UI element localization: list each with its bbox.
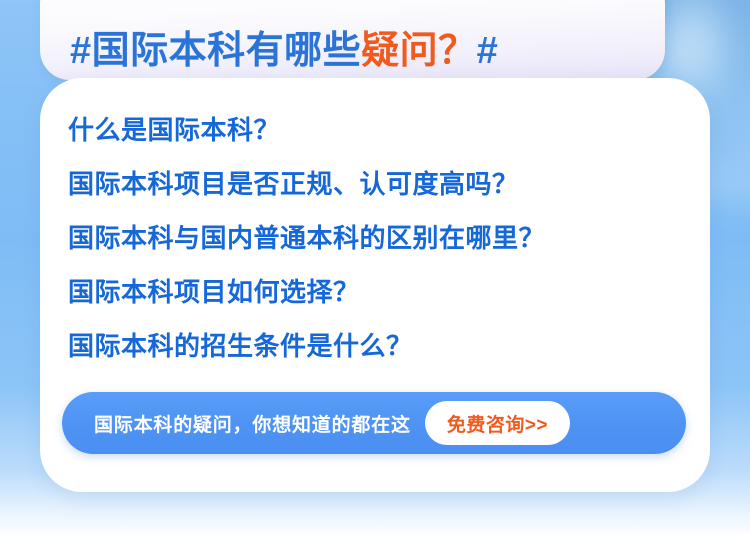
main-content-card: 什么是国际本科？ 国际本科项目是否正规、认可度高吗？ 国际本科与国内普通本科的区… [40, 78, 710, 492]
list-item: 国际本科项目是否正规、认可度高吗？ [68, 157, 686, 211]
hashtag-left: # [70, 30, 92, 72]
list-item: 什么是国际本科？ [68, 103, 686, 157]
header-card: #国际本科有哪些疑问？# [40, 0, 665, 80]
hashtag-right: # [477, 30, 499, 72]
list-item: 国际本科项目如何选择？ [68, 265, 686, 319]
cta-bar[interactable]: 国际本科的疑问，你想知道的都在这 免费咨询>> [62, 392, 686, 454]
list-item: 国际本科的招生条件是什么？ [68, 319, 686, 373]
question-list: 什么是国际本科？ 国际本科项目是否正规、认可度高吗？ 国际本科与国内普通本科的区… [68, 103, 686, 373]
page-title-orange-text: 疑问？ [361, 30, 477, 72]
cta-message: 国际本科的疑问，你想知道的都在这 [94, 410, 411, 437]
poster-root: #国际本科有哪些疑问？# 什么是国际本科？ 国际本科项目是否正规、认可度高吗？ … [0, 0, 750, 535]
page-title-blue-text: 国际本科有哪些 [92, 30, 362, 72]
free-consult-button[interactable]: 免费咨询>> [425, 401, 570, 445]
list-item: 国际本科与国内普通本科的区别在哪里？ [68, 211, 686, 265]
page-title: #国际本科有哪些疑问？# [40, 32, 665, 70]
